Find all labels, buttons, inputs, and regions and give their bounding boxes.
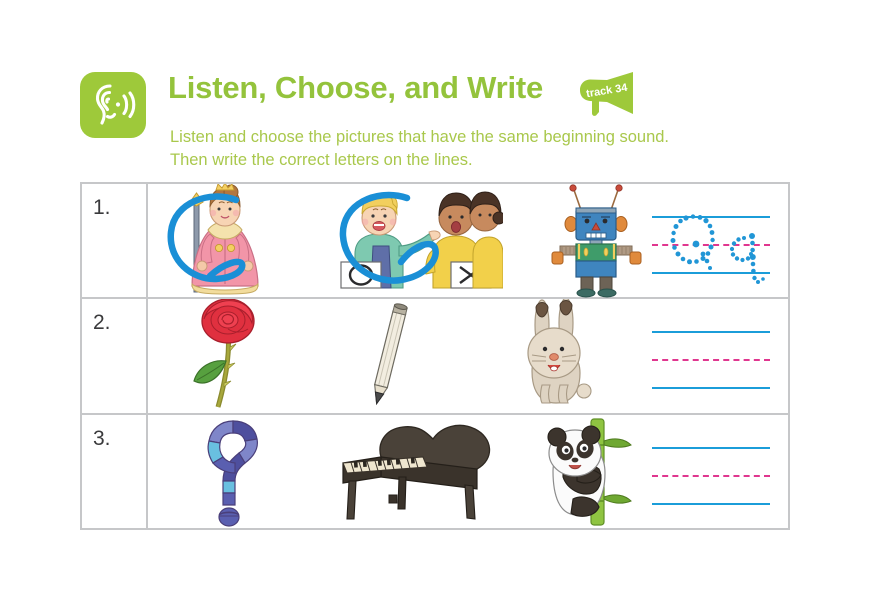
writing-lines[interactable] bbox=[648, 415, 790, 530]
ruled-line-middle bbox=[652, 475, 770, 477]
worksheet-header: Listen, Choose, and Write track 34 Liste… bbox=[80, 70, 800, 175]
rabbit-picture[interactable] bbox=[498, 299, 618, 412]
piano-picture[interactable] bbox=[323, 415, 513, 530]
worksheet-table: 1. bbox=[80, 182, 790, 530]
page-title: Listen, Choose, and Write bbox=[168, 70, 543, 106]
question-picture[interactable] bbox=[333, 184, 503, 297]
row-number: 2. bbox=[93, 311, 111, 335]
writing-lines[interactable] bbox=[648, 299, 790, 412]
table-row: 3. bbox=[82, 415, 788, 530]
ruled-line-bottom bbox=[652, 387, 770, 389]
ruled-line-bottom bbox=[652, 503, 770, 505]
instruction-line-2: Then write the correct letters on the li… bbox=[170, 149, 669, 172]
table-row: 1. bbox=[82, 184, 788, 299]
writing-lines[interactable] bbox=[648, 184, 790, 297]
instruction-line-1: Listen and choose the pictures that have… bbox=[170, 126, 669, 149]
ruled-line-top bbox=[652, 447, 770, 449]
table-row: 2. bbox=[82, 299, 788, 414]
letter-trace-Qq bbox=[648, 184, 790, 299]
question-mark-picture[interactable] bbox=[183, 415, 283, 530]
queen-picture[interactable] bbox=[158, 184, 288, 297]
track-badge[interactable]: track 34 bbox=[577, 68, 647, 120]
picture-options bbox=[148, 184, 648, 297]
picture-options bbox=[148, 299, 648, 412]
picture-options bbox=[148, 415, 648, 530]
panda-picture[interactable] bbox=[533, 415, 653, 530]
robot-picture[interactable] bbox=[548, 184, 648, 297]
ruled-line-middle bbox=[652, 359, 770, 361]
row-number: 3. bbox=[93, 427, 111, 451]
instructions: Listen and choose the pictures that have… bbox=[170, 126, 669, 172]
row-number: 1. bbox=[93, 196, 111, 220]
worksheet-page: Listen, Choose, and Write track 34 Liste… bbox=[0, 0, 873, 612]
pencil-picture[interactable] bbox=[338, 299, 438, 412]
rose-picture[interactable] bbox=[178, 299, 278, 412]
ruled-line-top bbox=[652, 331, 770, 333]
ear-listening-icon bbox=[80, 72, 146, 138]
